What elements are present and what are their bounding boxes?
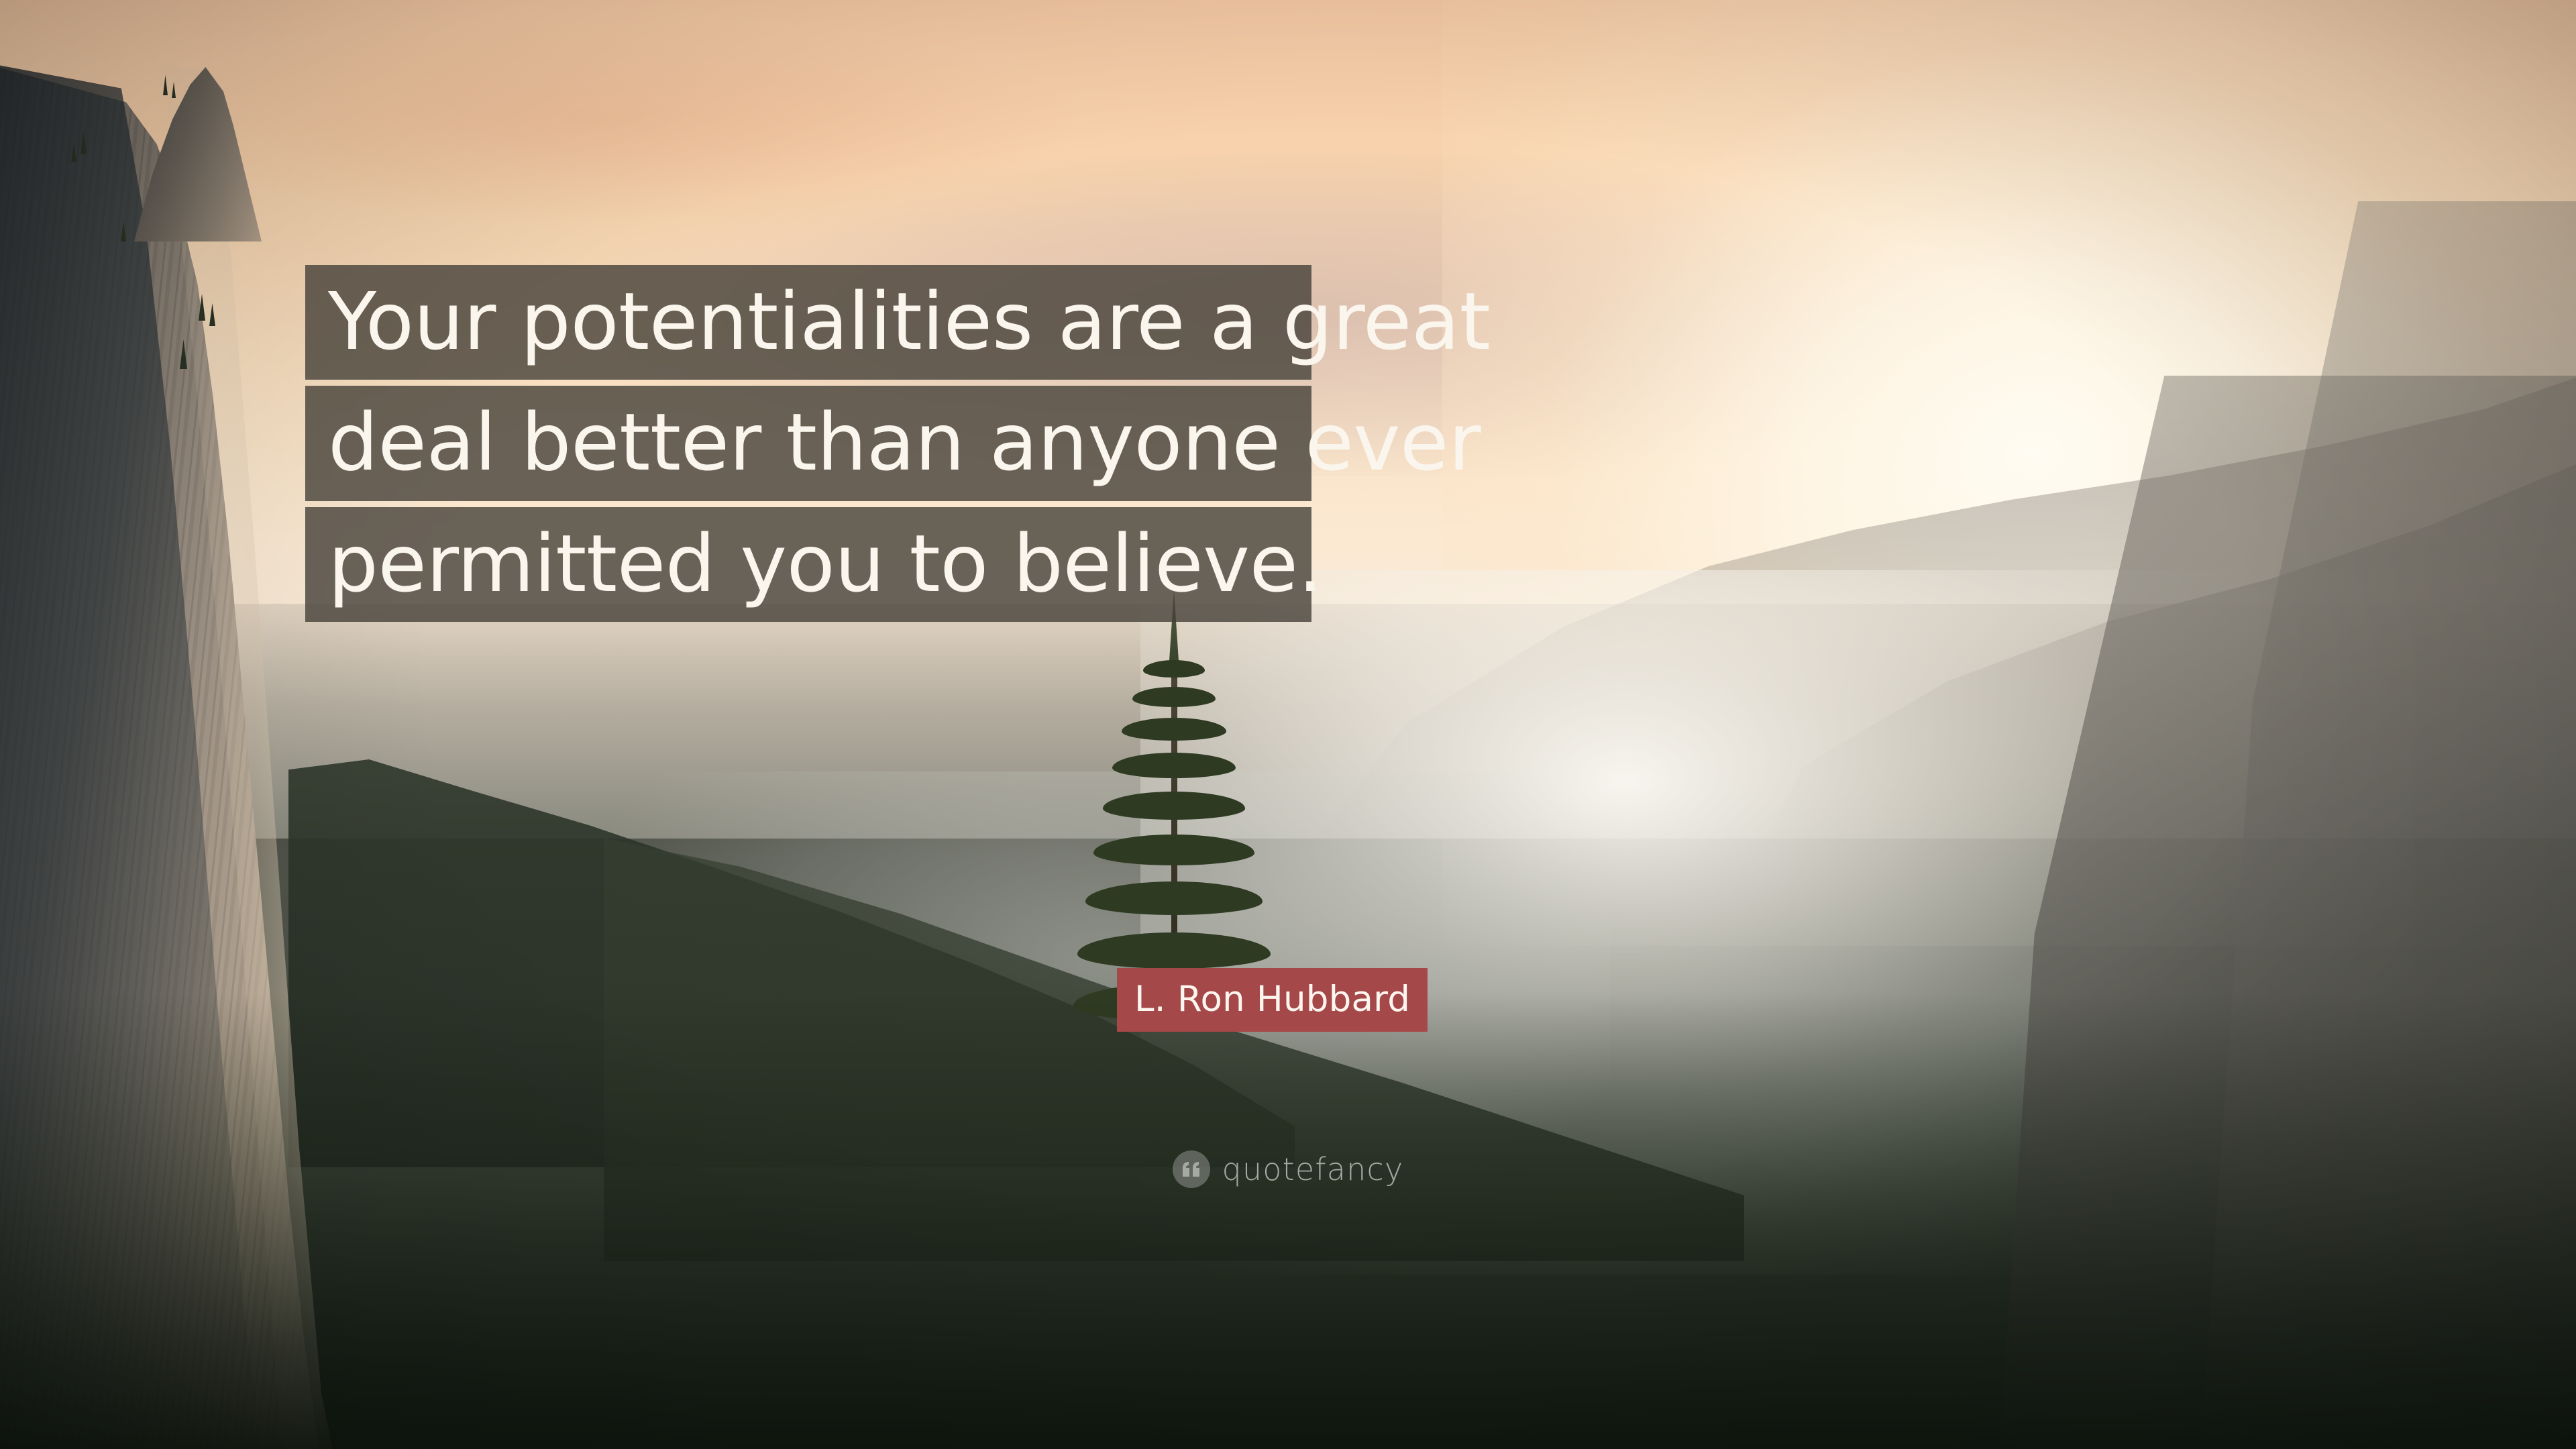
watermark-label: quotefancy bbox=[1222, 1151, 1404, 1187]
background-scene bbox=[0, 0, 2576, 1449]
quote-mark-icon bbox=[1173, 1150, 1210, 1188]
quote-text-block: Your potentialities are a great deal bet… bbox=[305, 265, 1311, 622]
quote-line-3: permitted you to believe. bbox=[305, 507, 1311, 622]
quote-image-canvas: Your potentialities are a great deal bet… bbox=[0, 0, 2576, 1449]
author-name-badge: L. Ron Hubbard bbox=[1117, 968, 1428, 1032]
author-attribution: L. Ron Hubbard bbox=[1117, 968, 1428, 1032]
corner-vignette bbox=[0, 0, 2576, 1449]
quote-line-1: Your potentialities are a great bbox=[305, 265, 1311, 380]
quotefancy-watermark: quotefancy bbox=[0, 1150, 2576, 1188]
quote-line-2: deal better than anyone ever bbox=[305, 386, 1311, 500]
